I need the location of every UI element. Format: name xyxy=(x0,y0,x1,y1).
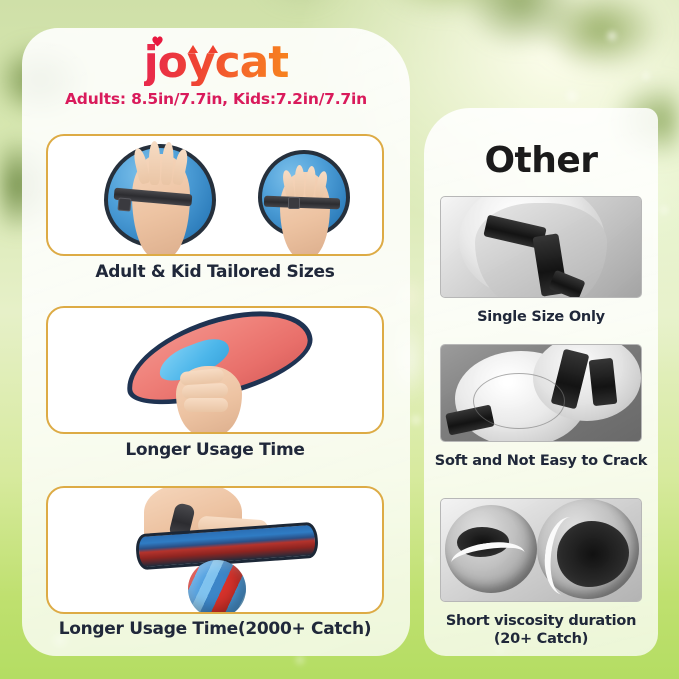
photo-flexing-paddle xyxy=(48,308,382,432)
photo-single-size-paddle xyxy=(441,197,641,297)
buckle xyxy=(117,197,131,211)
joycat-logo: joycat xyxy=(144,40,289,86)
other-card-single-size xyxy=(440,196,642,298)
buckle xyxy=(288,197,300,209)
cat-ear-left-icon xyxy=(188,45,198,53)
cat-ear-right-icon xyxy=(208,45,218,53)
photo-worn-balls xyxy=(441,499,641,601)
feature-card-sizes xyxy=(46,134,384,256)
photo-catching-ball xyxy=(48,488,382,612)
crack-line xyxy=(473,373,565,429)
caption-catch-count: Longer Usage Time(2000+ Catch) xyxy=(22,619,408,639)
infographic-canvas: joycat Adults: 8.5in/7.7in, Kids:7.2in/7… xyxy=(0,0,679,679)
other-card-viscosity xyxy=(440,498,642,602)
photo-adult-and-kid-paddles xyxy=(48,136,382,254)
caption-single-size: Single Size Only xyxy=(424,308,658,326)
caption-viscosity-line2: (20+ Catch) xyxy=(424,630,658,648)
finger xyxy=(184,398,228,412)
caption-viscosity: Short viscosity duration (20+ Catch) xyxy=(424,612,658,648)
size-subtitle: Adults: 8.5in/7.7in, Kids:7.2in/7.7in xyxy=(22,90,410,108)
feature-card-catch-count xyxy=(46,486,384,614)
finger xyxy=(149,141,160,185)
caption-crack: Soft and Not Easy to Crack xyxy=(424,452,658,470)
strap-black xyxy=(589,358,618,406)
other-title: Other xyxy=(424,140,658,181)
finger xyxy=(295,165,304,198)
other-card-crack xyxy=(440,344,642,442)
caption-usage-time: Longer Usage Time xyxy=(22,440,408,460)
photo-cracked-discs xyxy=(441,345,641,441)
feature-card-usage-time xyxy=(46,306,384,434)
finger xyxy=(182,383,229,399)
brand-block: joycat Adults: 8.5in/7.7in, Kids:7.2in/7… xyxy=(22,40,410,108)
caption-viscosity-line1: Short viscosity duration xyxy=(424,612,658,630)
striped-ball xyxy=(188,560,246,614)
caption-sizes: Adult & Kid Tailored Sizes xyxy=(22,262,408,282)
heart-icon xyxy=(151,35,164,47)
